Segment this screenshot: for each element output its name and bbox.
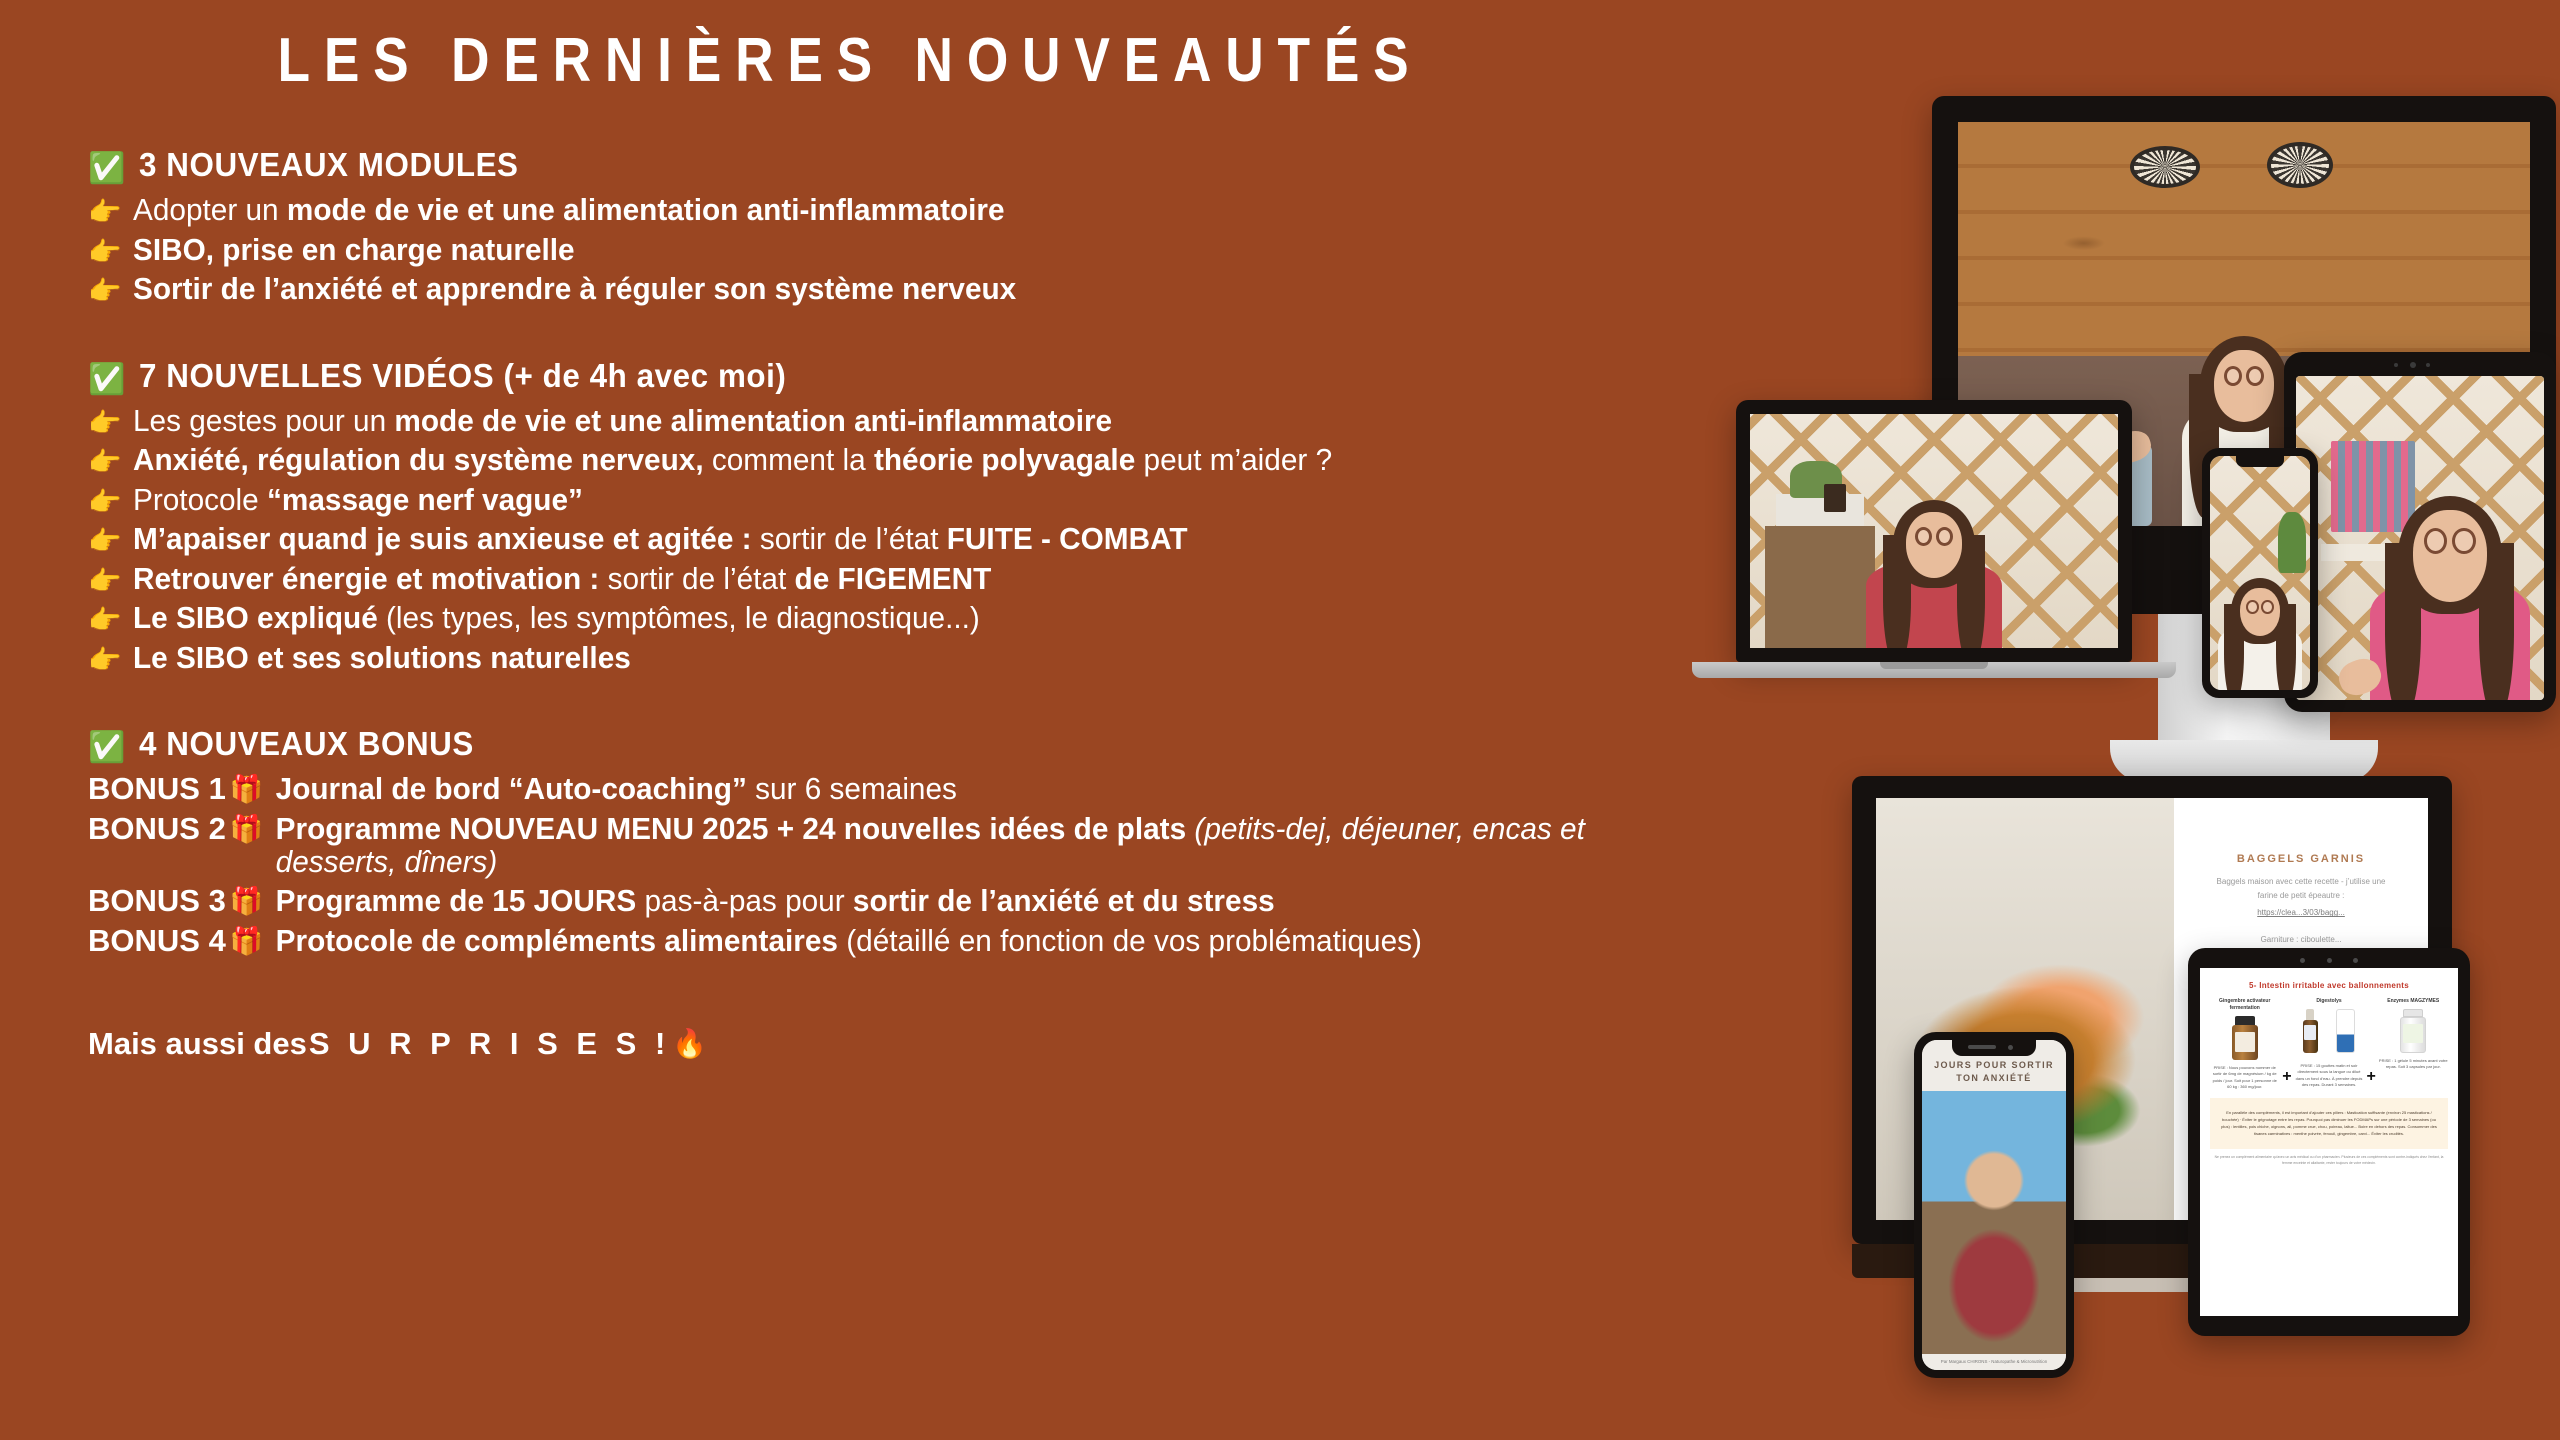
recipe-footer: Garniture : ciboulette... (2213, 933, 2390, 947)
bonus-1-label: BONUS 1 (88, 773, 226, 806)
recipe-title: BAGGELS GARNIS (2213, 853, 2390, 865)
supplement-dropper-bottle (2303, 1009, 2318, 1053)
check-icon: ✅ (88, 154, 125, 184)
videos-item-2-text: Anxiété, régulation du système nerveux, … (133, 444, 1332, 477)
check-icon: ✅ (88, 733, 125, 763)
section-modules: ✅ 3 NOUVEAUX MODULES 👉 Adopter un mode d… (88, 148, 1688, 306)
person-figure (2210, 540, 2310, 690)
pointing-hand-icon: 👉 (88, 449, 122, 476)
bonus-heading: 4 NOUVEAUX BONUS (139, 727, 474, 761)
bonus-3-label: BONUS 3 (88, 885, 226, 918)
laptop-screen (1750, 414, 2118, 648)
pointing-hand-icon: 👉 (88, 239, 122, 266)
videos-heading-row: ✅ 7 NOUVELLES VIDÉOS (+ de 4h avec moi) (88, 359, 1688, 393)
list-item: BONUS 4 🎁 Protocole de compléments alime… (88, 925, 1688, 958)
pointing-hand-icon: 👉 (88, 568, 122, 595)
list-item: 👉 Le SIBO et ses solutions naturelles (88, 642, 1688, 675)
videos-item-7-text: Le SIBO et ses solutions naturelles (133, 642, 631, 675)
modules-heading-row: ✅ 3 NOUVEAUX MODULES (88, 148, 1688, 182)
protocol-col-3-dose: PRISE : 1 gélule 5 minutes avant votre r… (2379, 1058, 2448, 1071)
closing-spaced: S U R P R I S E S ! (309, 1028, 670, 1060)
modules-item-2-text: SIBO, prise en charge naturelle (133, 234, 575, 267)
recipe-body: Baggels maison avec cette recette - j’ut… (2213, 875, 2390, 902)
protocol-col-1-title: Gingembre activateur fermentation (2210, 998, 2279, 1012)
page-title: LES DERNIÈRES NOUVEAUTÉS (119, 28, 1581, 93)
pointing-hand-icon: 👉 (88, 607, 122, 634)
bonus-4-text: Protocole de compléments alimentaires (d… (267, 925, 1422, 958)
list-item: BONUS 1 🎁 Journal de bord “Auto-coaching… (88, 773, 1688, 806)
phone-notch (2236, 456, 2284, 467)
person-glasses (1915, 527, 1953, 546)
recipe-link[interactable]: https://clea...3/03/bagg... (2213, 908, 2390, 917)
list-item: 👉 M’apaiser quand je suis anxieuse et ag… (88, 523, 1688, 556)
videos-heading: 7 NOUVELLES VIDÉOS (+ de 4h avec moi) (139, 359, 786, 393)
check-icon: ✅ (88, 365, 125, 395)
bonus-2-label: BONUS 2 (88, 813, 226, 846)
list-item: BONUS 2 🎁 Programme NOUVEAU MENU 2025 + … (88, 813, 1688, 878)
protocol-document: 5- Intestin irritable avec ballonnements… (2200, 968, 2458, 1316)
laptop-trackpad-notch (1880, 662, 1988, 669)
protocol-column: Gingembre activateur fermentation PRISE … (2210, 998, 2279, 1091)
list-item: 👉 Sortir de l’anxiété et apprendre à rég… (88, 273, 1688, 306)
person-face (2214, 350, 2274, 422)
gift-icon: 🎁 (230, 816, 264, 843)
bonus-heading-row: ✅ 4 NOUVEAUX BONUS (88, 727, 1688, 761)
anxiety-cover: JOURS POUR SORTIR TON ANXIÉTÉ Par Margau… (1922, 1040, 2066, 1370)
tablet-camera-icon (2410, 362, 2416, 368)
protocol-tablet-sensors-icon (2300, 956, 2358, 964)
person-glasses (2224, 366, 2264, 386)
fire-icon: 🔥 (672, 1030, 707, 1058)
pointing-hand-icon: 👉 (88, 278, 122, 305)
gift-icon: 🎁 (230, 776, 264, 803)
videos-item-4-text: M’apaiser quand je suis anxieuse et agit… (133, 523, 1188, 556)
tablet-sensor-left-icon (2394, 363, 2398, 367)
content-column: ✅ 3 NOUVEAUX MODULES 👉 Adopter un mode d… (88, 148, 1688, 1060)
bottle-dark (1824, 484, 1846, 512)
tablet-screen (2296, 376, 2544, 700)
modules-heading: 3 NOUVEAUX MODULES (139, 148, 519, 182)
spacer (88, 681, 1688, 727)
gift-icon: 🎁 (230, 928, 264, 955)
supplement-box (2336, 1009, 2355, 1053)
wall-basket-left (2130, 146, 2200, 188)
protocol-note: En parallèle des compléments, il est imp… (2210, 1098, 2447, 1149)
gift-icon: 🎁 (230, 888, 264, 915)
modules-item-1-text: Adopter un mode de vie et une alimentati… (133, 194, 1005, 227)
person-glasses (2246, 600, 2274, 614)
list-item: 👉 Anxiété, régulation du système nerveux… (88, 444, 1688, 477)
pointing-hand-icon: 👉 (88, 489, 122, 516)
protocol-column: Digestolys PRISE : 15 gouttes mati (2295, 998, 2364, 1089)
bonus-1-text: Journal de bord “Auto-coaching” sur 6 se… (267, 773, 957, 806)
bonus-4-label: BONUS 4 (88, 925, 226, 958)
phone-screen (2210, 456, 2310, 690)
cover-phone-camera-icon (2008, 1045, 2013, 1050)
list-item: 👉 SIBO, prise en charge naturelle (88, 234, 1688, 267)
tablet-sensor-right-icon (2426, 363, 2430, 367)
protocol-heading: 5- Intestin irritable avec ballonnements (2210, 981, 2447, 990)
protocol-col-2-dose: PRISE : 15 gouttes matin et soir directe… (2295, 1063, 2364, 1089)
list-item: 👉 Retrouver énergie et motivation : sort… (88, 563, 1688, 596)
bonus-3-text: Programme de 15 JOURS pas-à-pas pour sor… (267, 885, 1275, 918)
person-figure (2345, 450, 2544, 700)
section-videos: ✅ 7 NOUVELLES VIDÉOS (+ de 4h avec moi) … (88, 359, 1688, 675)
cover-phone-speaker-icon (1968, 1045, 1996, 1049)
anxiety-cover-photo (1922, 1091, 2066, 1353)
closing-prefix: Mais aussi des (88, 1028, 307, 1060)
protocol-column: Enzymes MAGZYMES PRISE : 1 gélule 5 minu… (2379, 998, 2448, 1071)
list-item: 👉 Protocole “massage nerf vague” (88, 484, 1688, 517)
protocol-col-2-title: Digestolys (2295, 998, 2364, 1005)
wall-basket-right (2267, 142, 2333, 188)
protocol-tablet-screen: 5- Intestin irritable avec ballonnements… (2200, 968, 2458, 1316)
supplement-bottle-white (2400, 1009, 2426, 1053)
protocol-columns: Gingembre activateur fermentation PRISE … (2210, 998, 2447, 1091)
videos-item-6-text: Le SIBO expliqué (les types, les symptôm… (133, 602, 980, 635)
videos-item-1-text: Les gestes pour un mode de vie et une al… (133, 405, 1112, 438)
poster-root: LES DERNIÈRES NOUVEAUTÉS ✅ 3 NOUVEAUX MO… (0, 0, 2560, 1440)
list-item: 👉 Adopter un mode de vie et une alimenta… (88, 194, 1688, 227)
list-item: BONUS 3 🎁 Programme de 15 JOURS pas-à-pa… (88, 885, 1688, 918)
section-bonus: ✅ 4 NOUVEAUX BONUS BONUS 1 🎁 Journal de … (88, 727, 1688, 957)
spacer (88, 964, 1688, 1028)
protocol-col-1-dose: PRISE : Nous pouvons nommer de sortir de… (2210, 1065, 2279, 1091)
videos-item-5-text: Retrouver énergie et motivation : sortir… (133, 563, 991, 596)
person-glasses (2424, 528, 2476, 554)
protocol-col-3-title: Enzymes MAGZYMES (2379, 998, 2448, 1005)
supplement-bottle-amber (2232, 1016, 2258, 1060)
plus-icon: + (2366, 1002, 2375, 1086)
pointing-hand-icon: 👉 (88, 647, 122, 674)
plus-icon: + (2282, 1002, 2291, 1086)
pointing-hand-icon: 👉 (88, 410, 122, 437)
pointing-hand-icon: 👉 (88, 199, 122, 226)
modules-item-3-text: Sortir de l’anxiété et apprendre à régul… (133, 273, 1016, 306)
spacer (88, 313, 1688, 359)
list-item: 👉 Les gestes pour un mode de vie et une … (88, 405, 1688, 438)
person-face (2413, 510, 2487, 602)
bonus-2-text: Programme NOUVEAU MENU 2025 + 24 nouvell… (267, 813, 1631, 878)
videos-item-3-text: Protocole “massage nerf vague” (133, 484, 583, 517)
list-item: 👉 Le SIBO expliqué (les types, les sympt… (88, 602, 1688, 635)
protocol-disclaimer: Ne prenez un complément alimentaire qu’a… (2210, 1155, 2447, 1166)
pointing-hand-icon: 👉 (88, 528, 122, 555)
person-figure (1844, 483, 2024, 648)
closing-line: Mais aussi des S U R P R I S E S !🔥 (88, 1028, 1688, 1060)
anxiety-cover-footer: Par Margaux CHIRONS - Naturopathe & Micr… (1922, 1354, 2066, 1371)
cover-phone-screen: JOURS POUR SORTIR TON ANXIÉTÉ Par Margau… (1922, 1040, 2066, 1370)
